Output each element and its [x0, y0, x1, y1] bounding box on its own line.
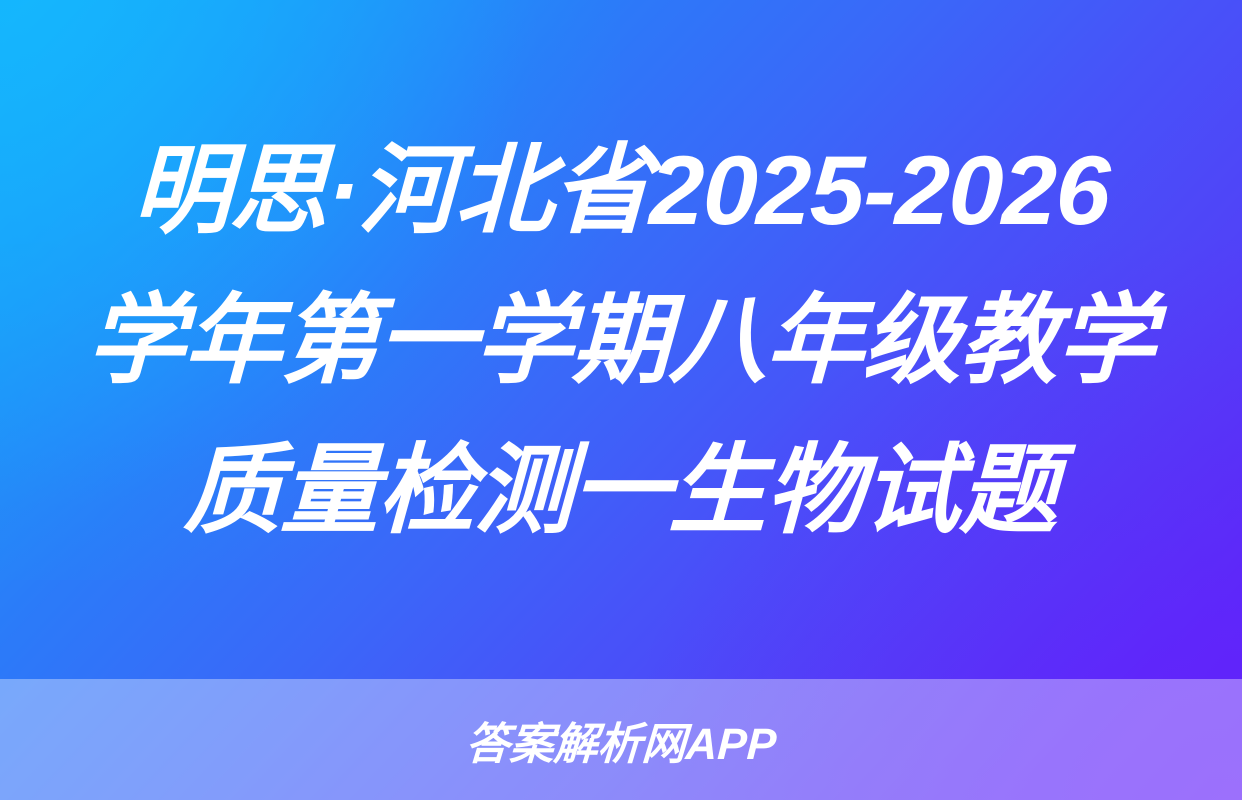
title-line-3: 质量检测一生物试题 — [183, 415, 1060, 565]
watermark-label: 答案解析网APP — [464, 708, 778, 772]
cover-card: 明思·河北省2025-2026 学年第一学期八年级教学 质量检测一生物试题 答案… — [0, 0, 1242, 800]
title-block: 明思·河北省2025-2026 学年第一学期八年级教学 质量检测一生物试题 — [0, 0, 1242, 679]
watermark-band: 答案解析网APP — [0, 679, 1242, 800]
title-line-2: 学年第一学期八年级教学 — [86, 265, 1157, 415]
title-line-1: 明思·河北省2025-2026 — [131, 115, 1111, 265]
